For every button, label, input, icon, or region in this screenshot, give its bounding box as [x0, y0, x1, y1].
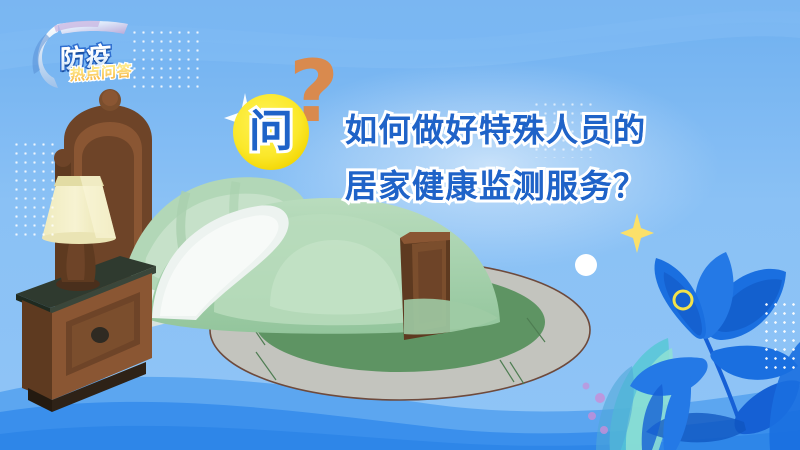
white-dot — [575, 254, 597, 276]
headline: 如何做好特殊人员的 如何做好特殊人员的 居家健康监测服务？ 居家健康监测服务？ — [345, 108, 675, 220]
headline-line-2-text: 居家健康监测服务？ — [345, 164, 647, 208]
headline-line-2: 居家健康监测服务？ 居家健康监测服务？ — [345, 164, 675, 211]
headline-line-1-text: 如何做好特殊人员的 — [345, 108, 647, 152]
poster-canvas: 防疫 防疫 热点问答 热点问答 ? 问 问 如何做好特殊人员的 如何做好特殊人员… — [0, 0, 800, 450]
brand-logo: 防疫 防疫 热点问答 热点问答 — [24, 18, 154, 90]
dot-grid-right — [762, 300, 800, 370]
logo-sub-text: 热点问答 — [70, 60, 132, 85]
wen-badge: 问 问 — [231, 92, 311, 172]
dot-grid-left — [12, 140, 56, 236]
headline-line-1: 如何做好特殊人员的 如何做好特殊人员的 — [345, 108, 675, 155]
wen-char-text: 问 — [231, 92, 311, 172]
